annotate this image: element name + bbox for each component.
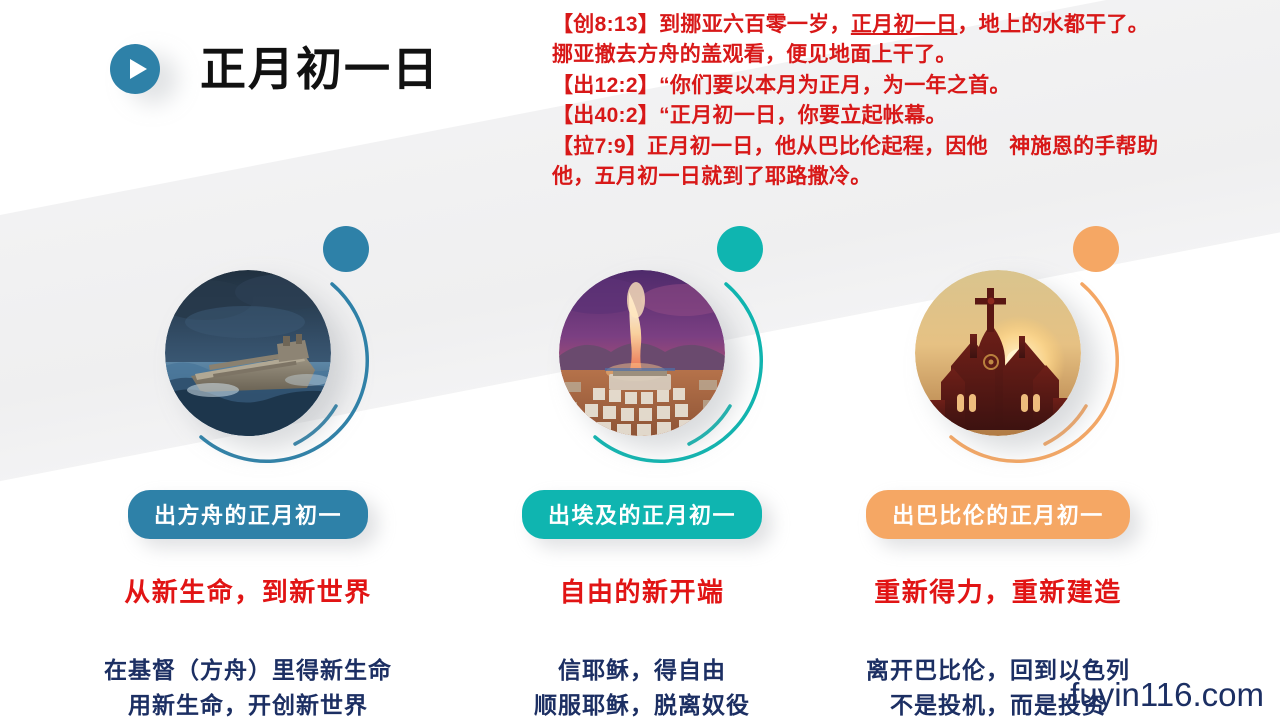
ring-dot-2 (717, 226, 763, 272)
body-line: 信耶稣，得自由 (452, 653, 832, 688)
scripture-seg-b: ，地上的水都干了。 (957, 13, 1149, 36)
pill-label-1: 出方舟的正月初一 (128, 490, 368, 539)
tabernacle-pillar-of-fire-photo (559, 270, 725, 436)
ring-dot-1 (323, 226, 369, 272)
headline-1: 从新生命，到新世界 (58, 572, 438, 609)
body-line: 在基督（方舟）里得新生命 (58, 653, 438, 688)
play-triangle-icon (130, 59, 147, 79)
scripture-seg-underlined: 正月初一日 (851, 13, 958, 36)
scripture-line-2: 挪亚撤去方舟的盖观看，便见地面上干了。 (552, 40, 1268, 70)
body-text-2: 信耶稣，得自由 顺服耶稣，脱离奴役 侍奉上帝，运用自由 (452, 653, 832, 720)
pill-label-2: 出埃及的正月初一 (522, 490, 762, 539)
slide-canvas: 正月初一日 【创8:13】到挪亚六百零一岁，正月初一日，地上的水都干了。 挪亚撤… (0, 0, 1280, 720)
body-line: 顺服耶稣，脱离奴役 (452, 688, 832, 720)
page-title: 正月初一日 (200, 46, 440, 92)
church-sunset-silhouette-photo (915, 270, 1081, 436)
scripture-line-3: 【出12:2】“你们要以本月为正月，为一年之首。 (552, 71, 1268, 101)
scripture-line-1: 【创8:13】到挪亚六百零一岁，正月初一日，地上的水都干了。 (552, 10, 1268, 40)
ring-graphic-2 (517, 228, 767, 478)
content-column-1: 出方舟的正月初一 从新生命，到新世界 在基督（方舟）里得新生命 用新生命，开创新… (58, 228, 438, 720)
scripture-seg-a: 【创8:13】到挪亚六百零一岁， (552, 13, 851, 36)
headline-3: 重新得力，重新建造 (808, 572, 1188, 609)
content-column-3: 出巴比伦的正月初一 重新得力，重新建造 离开巴比伦，回到以色列 不是投机，而是投… (808, 228, 1188, 720)
play-circle (110, 44, 160, 94)
site-watermark: fuyin116.com (1070, 676, 1264, 714)
scripture-line-4: 【出40:2】“正月初一日，你要立起帐幕。 (552, 101, 1268, 131)
ring-graphic-3 (873, 228, 1123, 478)
body-line: 用新生命，开创新世界 (58, 688, 438, 720)
scripture-block: 【创8:13】到挪亚六百零一岁，正月初一日，地上的水都干了。 挪亚撤去方舟的盖观… (552, 10, 1268, 193)
play-button-icon (88, 22, 182, 116)
pill-label-3: 出巴比伦的正月初一 (866, 490, 1130, 539)
bracket-bottom-right (94, 90, 182, 116)
noahs-ark-storm-photo (165, 270, 331, 436)
slide-title-row: 正月初一日 (88, 22, 440, 116)
body-text-1: 在基督（方舟）里得新生命 用新生命，开创新世界 筑坛献祭，生养众多 (58, 653, 438, 720)
headline-2: 自由的新开端 (452, 572, 832, 609)
ring-dot-3 (1073, 226, 1119, 272)
scripture-line-5: 【拉7:9】正月初一日，他从巴比伦起程，因他 神施恩的手帮助 (552, 132, 1268, 162)
content-column-2: 出埃及的正月初一 自由的新开端 信耶稣，得自由 顺服耶稣，脱离奴役 侍奉上帝，运… (452, 228, 832, 720)
scripture-line-6: 他，五月初一日就到了耶路撒冷。 (552, 162, 1268, 192)
ring-graphic-1 (123, 228, 373, 478)
